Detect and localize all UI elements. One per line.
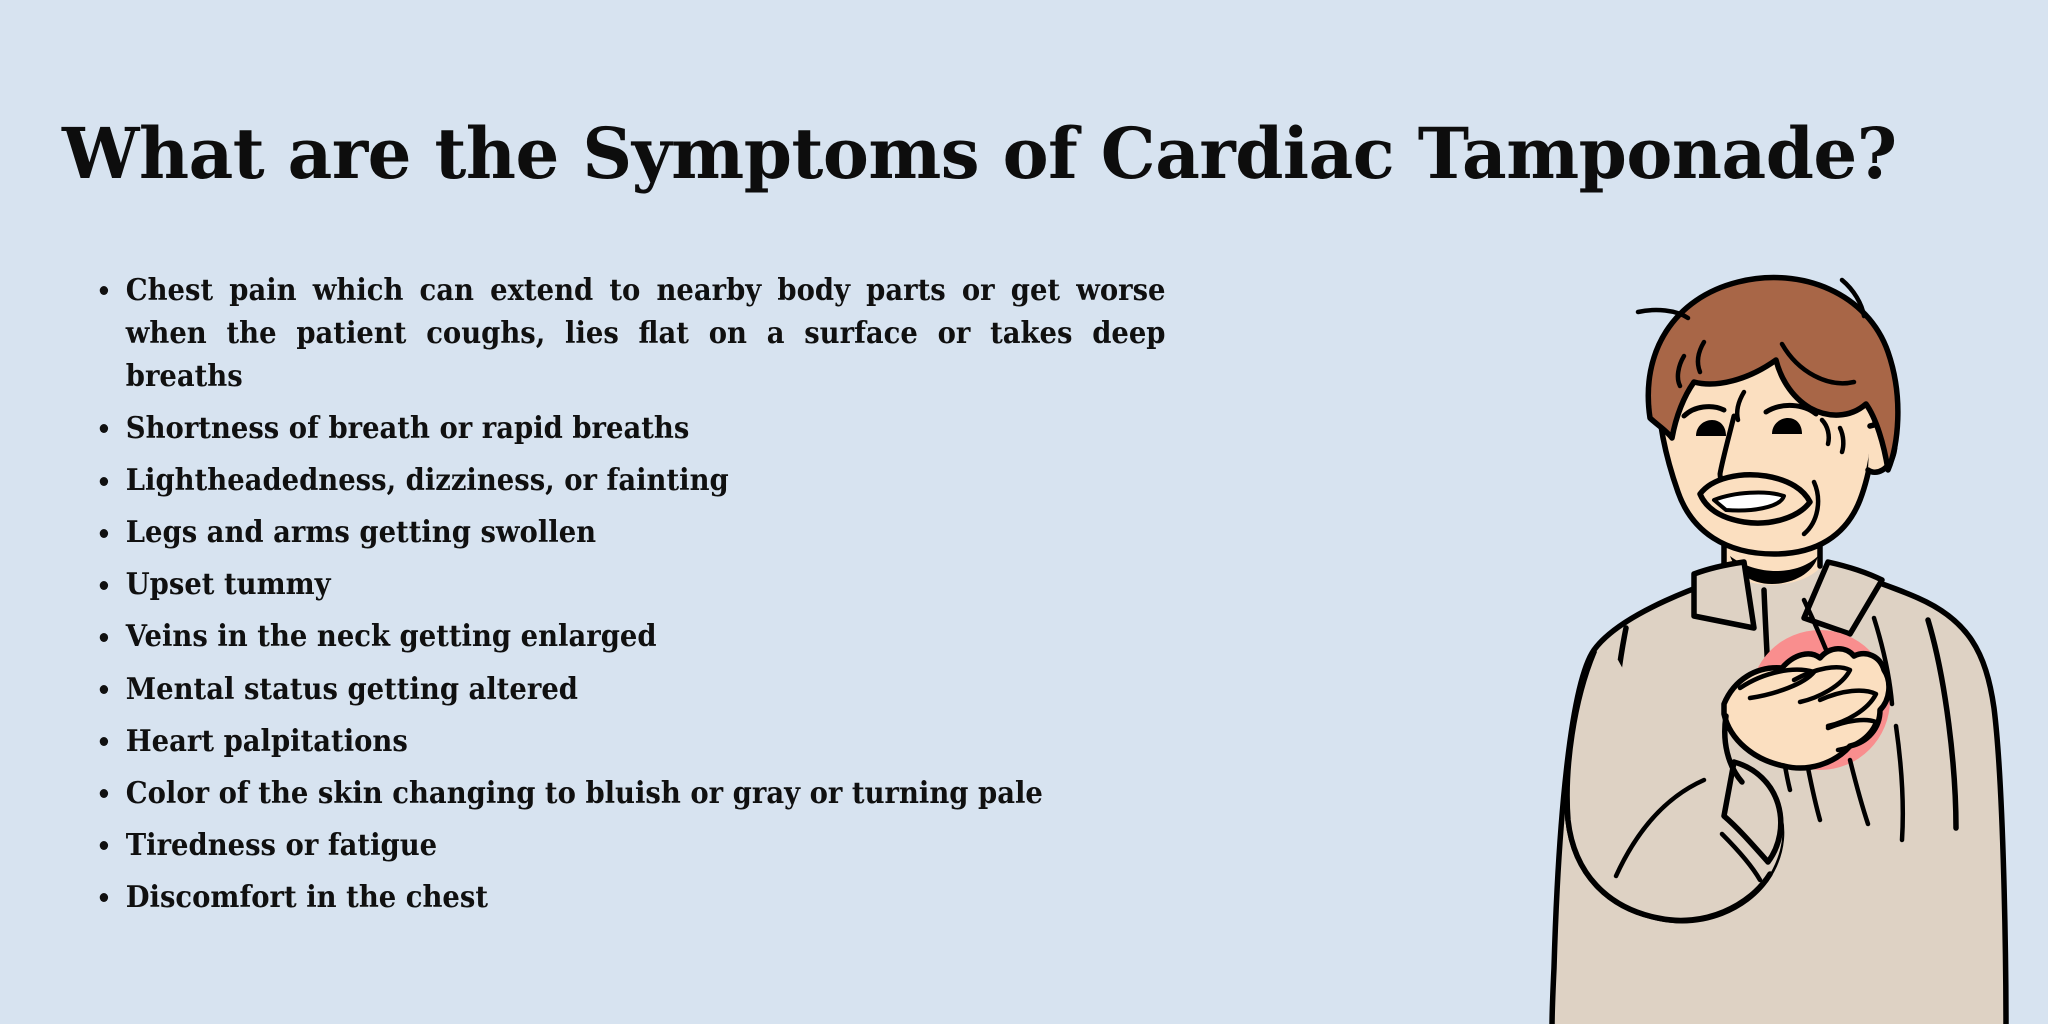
list-item-label: Lightheadedness, dizziness, or fainting [126, 458, 1091, 501]
list-item: Upset tummy [96, 562, 1091, 605]
bullet-icon [100, 737, 108, 746]
bullet-icon [100, 685, 108, 694]
list-item: Lightheadedness, dizziness, or fainting [96, 458, 1091, 501]
list-item-label: Legs and arms getting swollen [126, 510, 1091, 553]
bullet-icon [100, 841, 108, 850]
illustration-man-clutching-chest [1498, 268, 2048, 1024]
list-item-label: Heart palpitations [126, 719, 1091, 762]
list-item-label: Tiredness or fatigue [126, 823, 1091, 866]
bullet-icon [100, 789, 108, 798]
list-item: Chest pain which can extend to nearby bo… [96, 268, 1091, 397]
list-item-label: Veins in the neck getting enlarged [126, 614, 1091, 657]
list-item: Mental status getting altered [96, 667, 1091, 710]
list-item-label: Upset tummy [126, 562, 1091, 605]
infographic-canvas: What are the Symptoms of Cardiac Tampona… [0, 0, 2048, 1024]
list-item-label: Discomfort in the chest [126, 875, 1091, 918]
list-item: Veins in the neck getting enlarged [96, 614, 1091, 657]
list-item-label: Mental status getting altered [126, 667, 1091, 710]
list-item-label: Chest pain which can extend to nearby bo… [126, 268, 1166, 397]
list-item: Color of the skin changing to bluish or … [96, 771, 1091, 814]
bullet-icon [100, 633, 108, 642]
list-item: Heart palpitations [96, 719, 1091, 762]
bullet-icon [100, 424, 108, 433]
list-item: Discomfort in the chest [96, 875, 1091, 918]
list-item-label: Color of the skin changing to bluish or … [126, 771, 1091, 814]
list-item: Tiredness or fatigue [96, 823, 1091, 866]
page-title: What are the Symptoms of Cardiac Tampona… [62, 119, 1540, 189]
bullet-icon [100, 581, 108, 590]
bullet-icon [100, 529, 108, 538]
symptom-list: Chest pain which can extend to nearby bo… [96, 268, 1166, 927]
bullet-icon [100, 893, 108, 902]
list-item-label: Shortness of breath or rapid breaths [126, 406, 1091, 449]
bullet-icon [100, 286, 108, 295]
list-item: Legs and arms getting swollen [96, 510, 1091, 553]
list-item: Shortness of breath or rapid breaths [96, 406, 1091, 449]
bullet-icon [100, 477, 108, 486]
